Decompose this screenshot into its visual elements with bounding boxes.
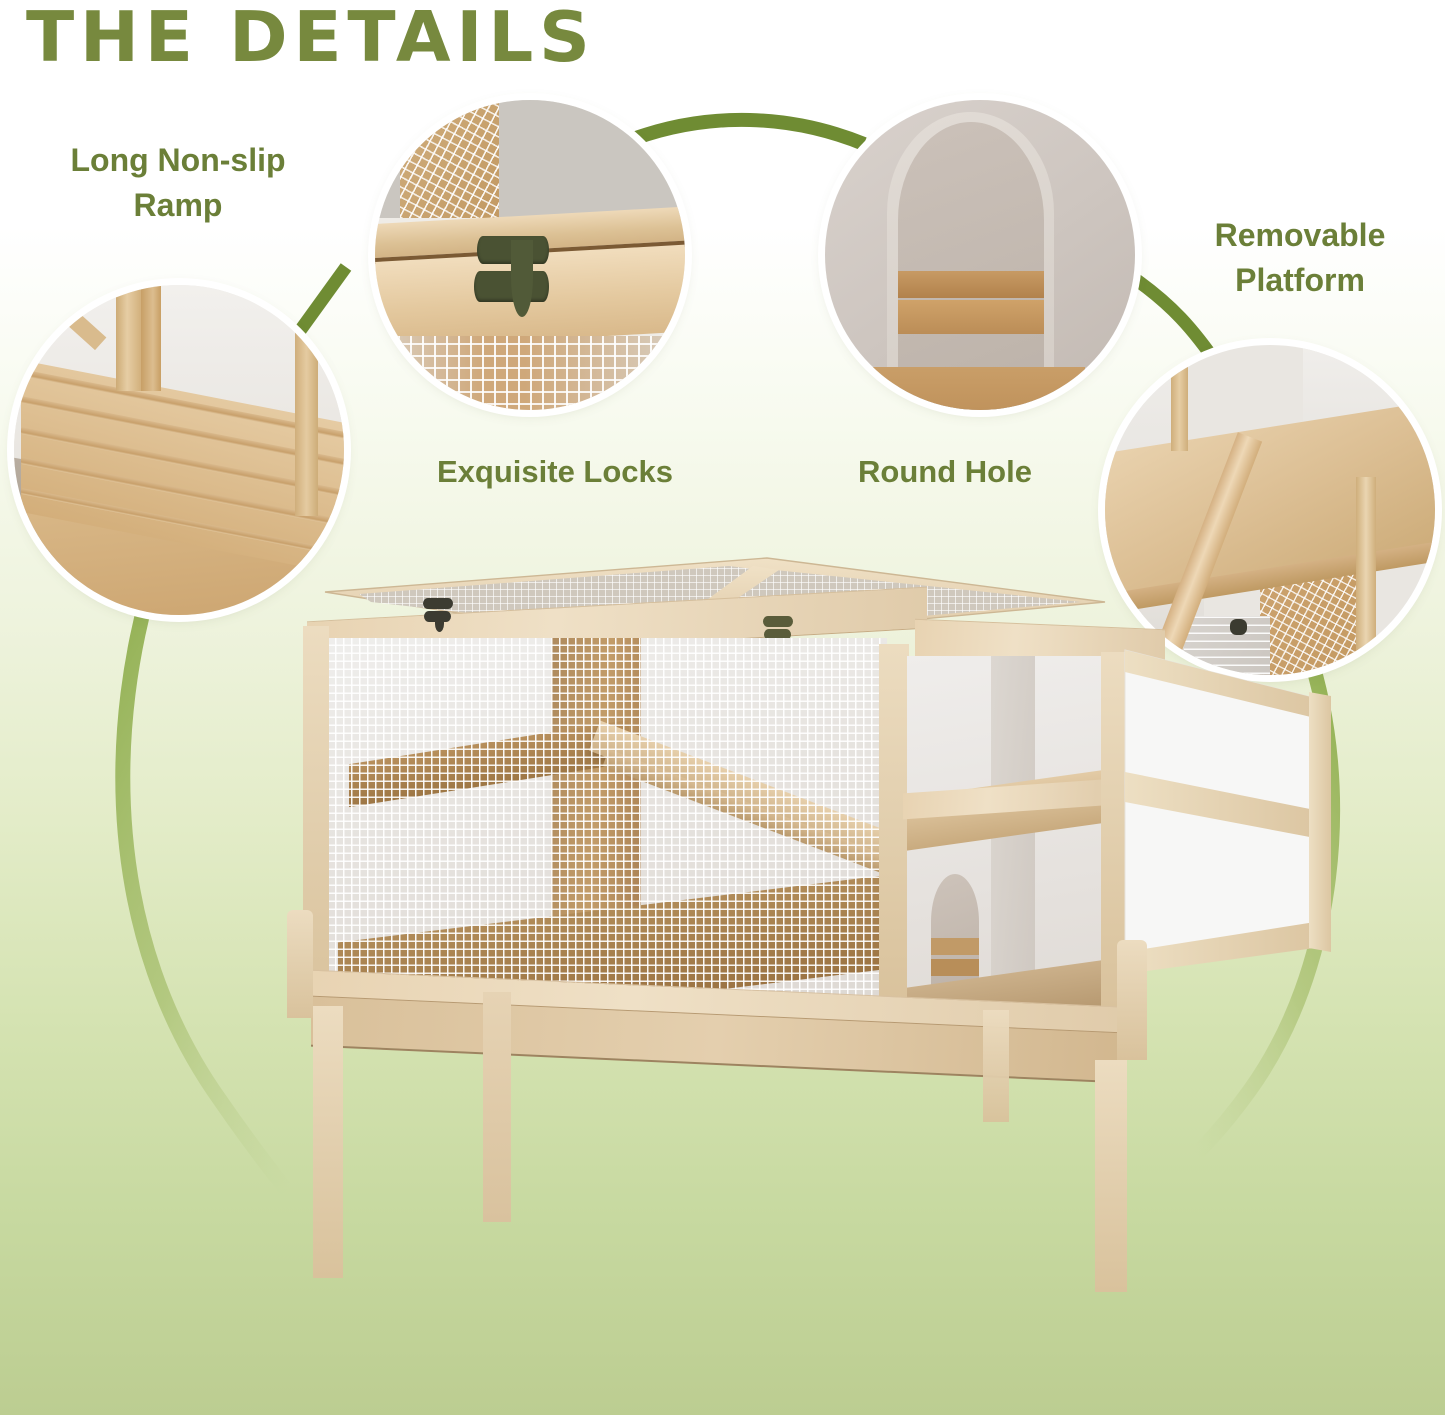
hutch-side-panel	[1117, 622, 1347, 1042]
hutch-leg-bracket-right	[1117, 940, 1147, 1060]
feature-label-long-non-slip-ramp: Long Non-slip Ramp	[28, 138, 328, 229]
page-title: THE DETAILS	[26, 0, 596, 78]
feature-label-removable-platform: Removable Platform	[1160, 213, 1440, 304]
feature-photo-round-hole	[825, 100, 1135, 410]
hutch-leg-rear-left	[483, 992, 511, 1222]
feature-photo-exquisite-locks	[375, 100, 685, 410]
hutch-leg-rear-right	[983, 1010, 1009, 1122]
roof-latch-left-icon[interactable]	[423, 598, 453, 632]
hutch-right-interior	[907, 656, 1107, 1008]
hutch-leg-front-right	[1095, 1060, 1127, 1292]
hutch-leg-front-left	[313, 1006, 343, 1278]
product-illustration	[255, 540, 1125, 1280]
hutch-front-center-post	[879, 644, 909, 1004]
hutch-leg-bracket-left	[287, 910, 313, 1018]
feature-label-round-hole: Round Hole	[815, 450, 1075, 494]
feature-label-exquisite-locks: Exquisite Locks	[395, 450, 715, 494]
hutch-mesh-front-door[interactable]	[327, 638, 887, 998]
